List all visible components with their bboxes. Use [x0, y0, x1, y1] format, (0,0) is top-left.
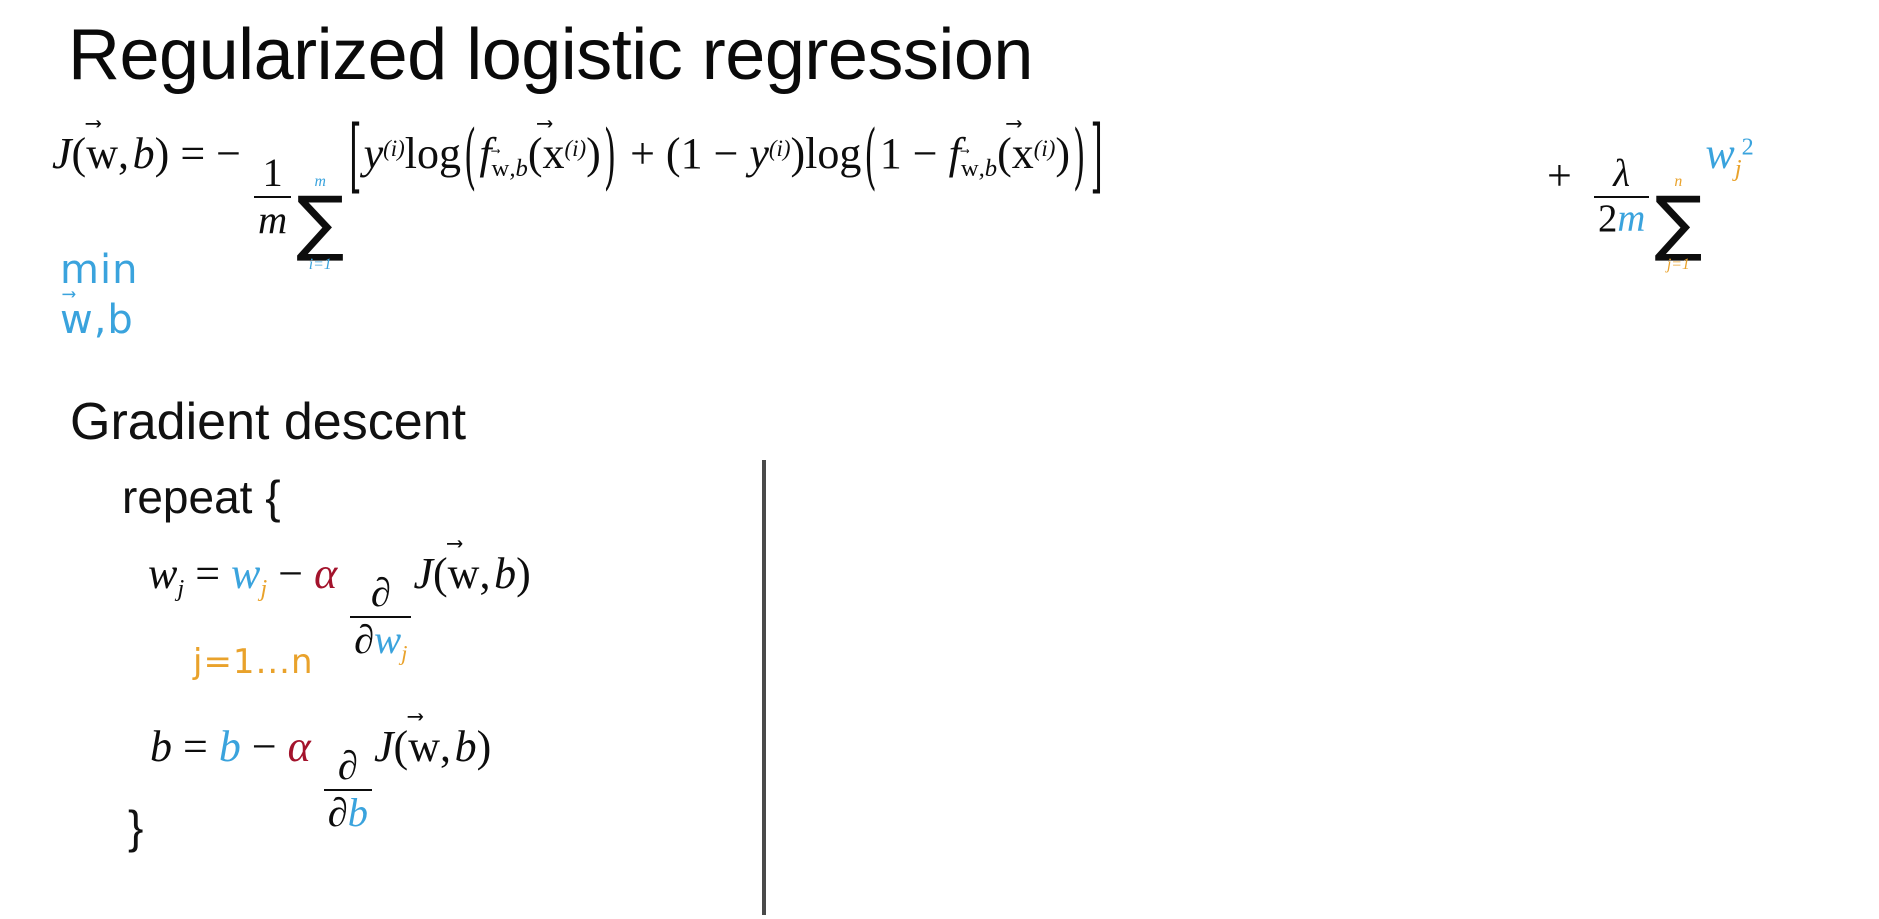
partial-derivative-w-fraction: ∂ ∂wj — [350, 572, 411, 664]
loss-y-term: y — [364, 129, 384, 178]
lambda-numerator: λ — [1609, 154, 1634, 195]
x-vector-2: ⃗x — [1012, 132, 1034, 176]
fraction-denominator: m — [254, 196, 291, 241]
w-update-lhs-w: w — [148, 549, 177, 598]
w-update-comma: , — [479, 549, 490, 598]
x-letter-1: x — [542, 129, 564, 178]
partial-derivative-b-fraction: ∂ ∂b — [324, 745, 372, 833]
sigma-icon: ∑ — [296, 190, 344, 256]
cost-w-letter: w — [86, 129, 118, 178]
cost-w-vector: ⃗w — [86, 132, 118, 176]
term3-one: 1 — [880, 129, 902, 178]
denominator-m: m — [1617, 197, 1645, 240]
partial-denominator-w: ∂wj — [350, 616, 411, 665]
cost-paren-open: ( — [72, 129, 87, 178]
w-update-rhs-subscript: j — [260, 575, 267, 602]
reg-w-subscript: j — [1735, 155, 1742, 182]
b-update-b: b — [455, 722, 477, 771]
w-update-minus: − — [278, 549, 303, 598]
model-f-1: f — [479, 129, 491, 178]
lambda-over-2m-fraction: λ 2m — [1594, 154, 1649, 239]
regularization-term: λ 2m n ∑ j=1 wj2 — [1592, 132, 1754, 273]
x-superscript-2: (i) — [1034, 136, 1056, 161]
min-annotation: min — [60, 250, 138, 290]
two-m-denominator: 2m — [1594, 196, 1649, 239]
w-update-paren-open: ( — [433, 549, 448, 598]
paren-close-outer-1: ) — [604, 124, 616, 195]
x-vector-1: ⃗x — [542, 132, 564, 176]
min-w-letter: w — [60, 297, 94, 343]
b-update-rhs: b — [219, 722, 241, 771]
fraction-numerator: 1 — [258, 152, 286, 195]
gradient-descent-heading: Gradient descent — [70, 392, 466, 452]
partial-numerator-b: ∂ — [334, 745, 362, 788]
sigma-icon: ∑ — [1654, 190, 1702, 256]
paren-open-outer-2: ( — [864, 124, 876, 195]
bracket-close: ] — [1090, 119, 1102, 200]
model-f-2: f — [949, 129, 961, 178]
b-update-alpha: α — [288, 722, 311, 771]
b-update-equals: = — [183, 722, 208, 771]
x-letter-2: x — [1012, 129, 1034, 178]
reg-w-symbol: w — [1705, 129, 1734, 178]
paren-open-outer-1: ( — [464, 124, 476, 195]
w-update-b: b — [494, 549, 516, 598]
regularization-plus-sign: + — [1547, 150, 1572, 201]
cost-paren-close: ) — [155, 129, 170, 178]
loss-y-superscript: (i) — [383, 136, 405, 161]
summation-lower-limit: i=1 — [309, 257, 332, 273]
b-update-lhs: b — [150, 722, 172, 771]
min-w-vector: ⃗w — [60, 300, 94, 340]
model-f-subscript-2: ⃗w,b — [961, 155, 997, 182]
cost-equals: = — [180, 129, 205, 178]
b-update-paren-close: ) — [477, 722, 492, 771]
paren-open-term2: ( — [666, 129, 681, 178]
partial-symbol-den: ∂ — [354, 617, 374, 662]
partial-den-w-letter: w — [374, 617, 401, 662]
loss-plus: + — [630, 129, 655, 178]
cost-minus: − — [216, 129, 241, 178]
paren-close-outer-2: ) — [1073, 124, 1085, 195]
x-superscript-1: (i) — [564, 136, 586, 161]
partial-den-b-letter: b — [348, 790, 368, 835]
cost-J: J — [52, 129, 72, 178]
min-comma-b: ,b — [94, 297, 134, 343]
f-sub-b-1: ,b — [509, 155, 527, 182]
term2-y-superscript: (i) — [769, 136, 791, 161]
b-update-w-vector: ⃗w — [408, 725, 440, 769]
w-update-J: J — [413, 549, 433, 598]
term2-y: y — [749, 129, 769, 178]
f-sub-w-vector-2: ⃗w — [961, 157, 979, 182]
denominator-two: 2 — [1598, 197, 1617, 240]
closing-brace: } — [128, 800, 143, 854]
page-title: Regularized logistic regression — [68, 14, 1033, 96]
term3-minus: − — [913, 129, 938, 178]
log-first: log — [405, 129, 461, 178]
w-update-w-letter: w — [448, 549, 480, 598]
f-sub-w-letter-2: w — [961, 155, 979, 182]
w-update-alpha: α — [314, 549, 337, 598]
f-sub-w-letter-1: w — [492, 155, 510, 182]
bracket-open: [ — [349, 119, 361, 200]
w-update-rhs-w: w — [231, 549, 260, 598]
b-update-paren-open: ( — [394, 722, 409, 771]
log-second: log — [805, 129, 861, 178]
vertical-divider — [762, 460, 766, 915]
partial-den-w-subscript: j — [401, 640, 407, 665]
partial-numerator: ∂ — [367, 572, 395, 615]
b-update-comma: , — [440, 722, 451, 771]
partial-symbol-den-b: ∂ — [328, 790, 348, 835]
summation-operator: m ∑ i=1 — [296, 174, 344, 273]
f-sub-b-2: ,b — [979, 155, 997, 182]
j-range-annotation: j=1...n — [193, 645, 314, 679]
cost-function-equation: J(⃗w, b) = − 1 m m ∑ i=1 [y(i)log(f⃗w,b(… — [52, 132, 1105, 273]
w-update-w-vector: ⃗w — [448, 552, 480, 596]
reg-summation-lower-limit: j=1 — [1667, 257, 1690, 273]
repeat-loop-line: repeat { — [122, 470, 281, 524]
w-update-paren-close: ) — [516, 549, 531, 598]
paren-close-term2: ) — [791, 129, 806, 178]
cost-comma: , — [118, 129, 129, 178]
term2-one: 1 — [681, 129, 703, 178]
paren-close-inner-2: ) — [1055, 129, 1070, 178]
model-f-subscript-1: ⃗w,b — [492, 155, 528, 182]
paren-open-inner-2: ( — [997, 129, 1012, 178]
reg-w-superscript: 2 — [1742, 133, 1754, 160]
w-update-lhs-subscript: j — [177, 575, 184, 602]
w-update-equals: = — [195, 549, 220, 598]
f-sub-w-vector-1: ⃗w — [492, 157, 510, 182]
cost-b: b — [133, 129, 155, 178]
slide-canvas: Regularized logistic regression J(⃗w, b)… — [0, 0, 1879, 919]
paren-close-inner-1: ) — [586, 129, 601, 178]
b-parameter-update-equation: b = b − α ∂ ∂b J(⃗w, b) — [150, 725, 491, 834]
term2-minus: − — [714, 129, 739, 178]
one-over-m-fraction: 1 m — [254, 152, 291, 240]
partial-denominator-b: ∂b — [324, 789, 372, 834]
b-update-w-letter: w — [408, 722, 440, 771]
b-update-minus: − — [252, 722, 277, 771]
regularization-summation: n ∑ j=1 — [1654, 174, 1702, 273]
b-update-J: J — [374, 722, 394, 771]
paren-open-inner-1: ( — [528, 129, 543, 178]
min-subscript-annotation: ⃗w,b — [60, 300, 134, 340]
